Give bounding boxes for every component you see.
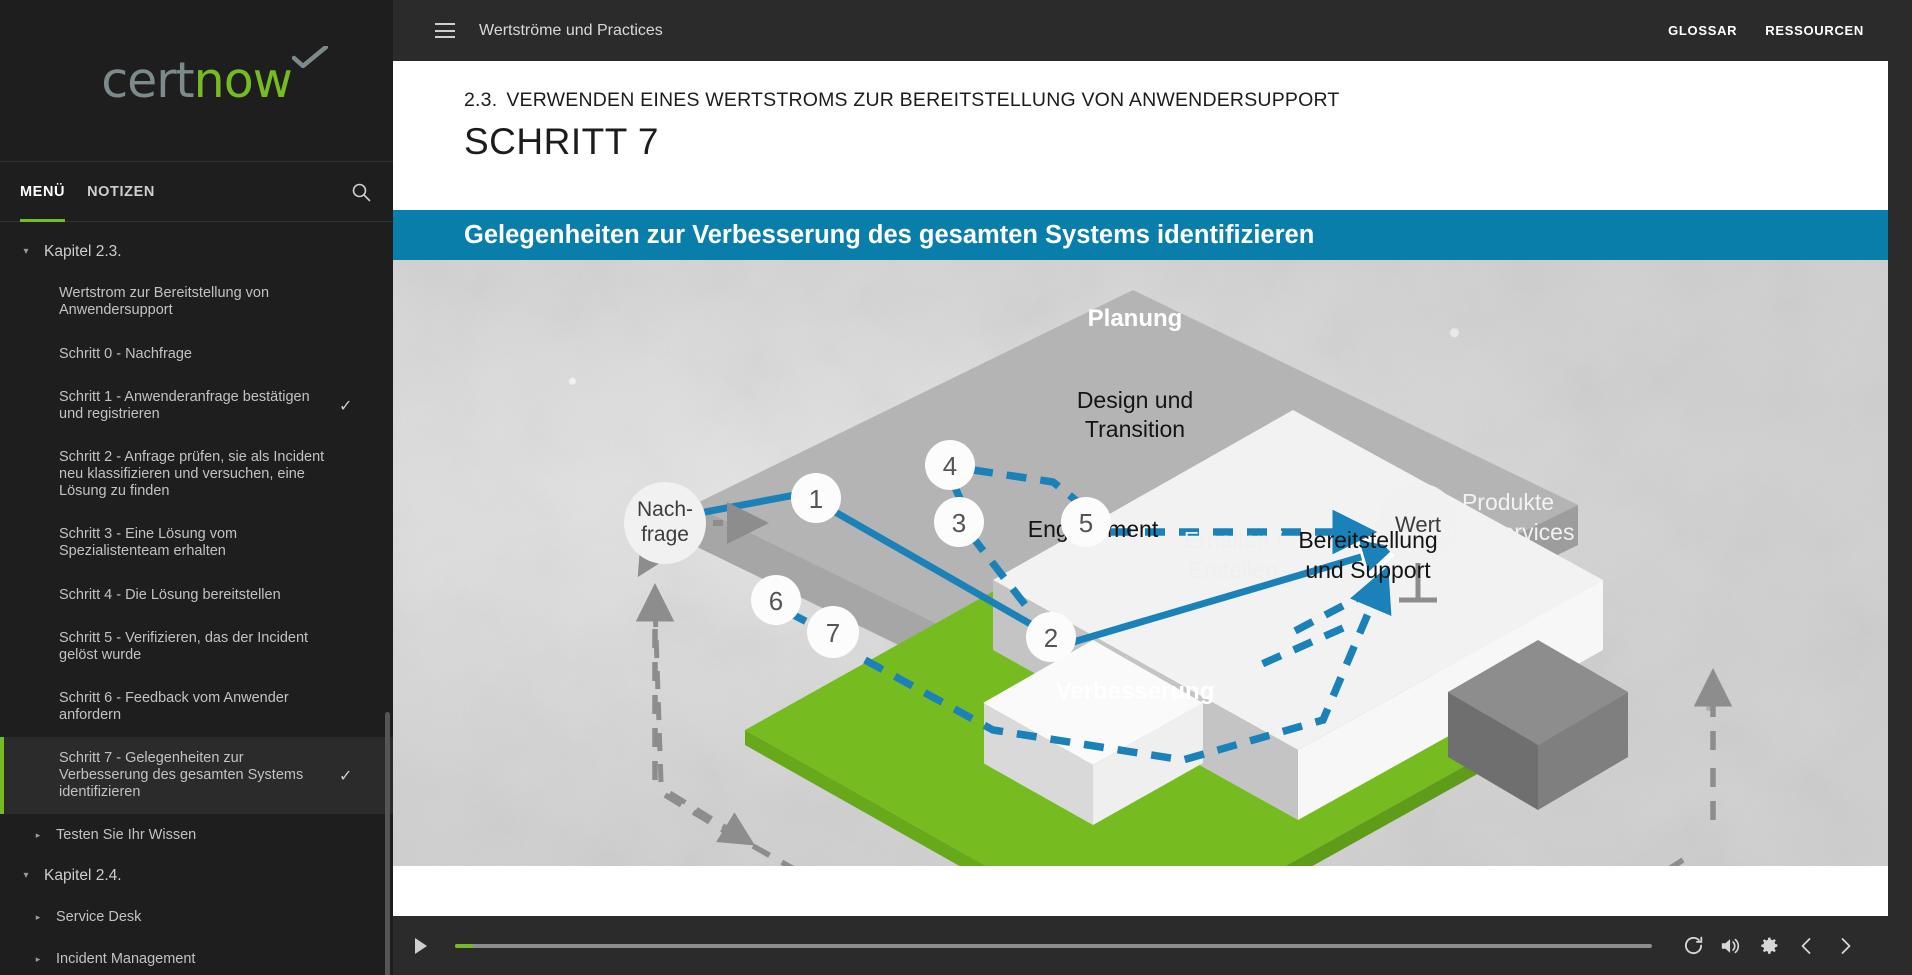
completed-check-icon: ✓ — [339, 766, 353, 786]
player-bar — [393, 916, 1912, 975]
nav-item-label: Schritt 6 - Feedback vom Anwender anford… — [59, 690, 329, 724]
page-title: SCHRITT 7 — [464, 121, 1888, 163]
step-node-2: 2 — [1044, 623, 1058, 653]
completed-check-icon: ✓ — [339, 396, 353, 416]
logo-wordmark: certnow — [101, 56, 292, 106]
delivery-support-line1: Bereitstellung — [1298, 527, 1437, 553]
improvement-label: Verbesserung — [1056, 678, 1215, 705]
nav-chapter-kapitel-2-4[interactable]: ▾ Kapitel 2.4. — [0, 856, 393, 896]
replay-icon[interactable] — [1674, 927, 1712, 965]
progress-slider[interactable] — [455, 944, 1652, 948]
slide-banner: Gelegenheiten zur Verbesserung des gesam… — [393, 210, 1888, 260]
step-node-3: 3 — [952, 508, 966, 538]
course-title: Wertströme und Practices — [479, 22, 663, 40]
nav-item-label: Schritt 0 - Nachfrage — [59, 346, 329, 363]
sidebar-item-schritt-7[interactable]: Schritt 7 - Gelegenheiten zur Verbesseru… — [0, 737, 393, 814]
nav-chapter-label: Kapitel 2.4. — [44, 866, 122, 886]
volume-icon[interactable] — [1712, 927, 1750, 965]
checkmark-icon — [292, 46, 328, 68]
settings-gear-icon[interactable] — [1750, 927, 1788, 965]
sidebar-scrollbar[interactable] — [385, 222, 390, 975]
nav-item-label: Schritt 5 - Verifizieren, das der Incide… — [59, 630, 329, 664]
top-bar: Wertströme und Practices GLOSSAR RESSOUR… — [393, 0, 1912, 61]
slide-banner-text: Gelegenheiten zur Verbesserung des gesam… — [464, 221, 1314, 250]
link-ressourcen[interactable]: RESSOURCEN — [1765, 23, 1864, 38]
nav-item-label: Schritt 7 - Gelegenheiten zur Verbesseru… — [59, 750, 329, 801]
slide-eyebrow-text: VERWENDEN EINES WERTSTROMS ZUR BEREITSTE… — [506, 89, 1339, 111]
step-nodes: 1 2 3 4 5 6 7 — [751, 440, 1111, 662]
value-stream-diagram: Nach- frage Wert Planung Design und — [393, 260, 1888, 866]
sidebar-tabs: MENÜ NOTIZEN — [0, 162, 393, 222]
delivery-support-line2: und Support — [1305, 557, 1431, 583]
nav-sub-label: Incident Management — [56, 951, 195, 967]
main-panel: Wertströme und Practices GLOSSAR RESSOUR… — [393, 0, 1912, 975]
app-root: certnow MENÜ NOTIZEN ▾ Kapitel 2.3. Wert… — [0, 0, 1912, 975]
link-glossar[interactable]: GLOSSAR — [1668, 23, 1737, 38]
brand-logo[interactable]: certnow — [0, 0, 393, 162]
nav-sub-label: Testen Sie Ihr Wissen — [56, 827, 196, 843]
sidebar-item-schritt-0[interactable]: Schritt 0 - Nachfrage — [0, 332, 393, 376]
progress-fill — [455, 944, 473, 948]
nav-item-label: Schritt 1 - Anwenderanfrage bestätigen u… — [59, 389, 329, 423]
slide-eyebrow: 2.3.VERWENDEN EINES WERTSTROMS ZUR BEREI… — [464, 89, 1888, 112]
demand-label-line2: frage — [641, 523, 689, 546]
nav-item-label: Wertstrom zur Bereitstellung von Anwende… — [59, 285, 329, 319]
sidebar-item-incident-management[interactable]: ▸ Incident Management — [0, 938, 393, 975]
demand-label-line1: Nach- — [637, 498, 693, 521]
design-transition-line2: Transition — [1085, 416, 1185, 442]
tab-notizen[interactable]: NOTIZEN — [87, 162, 155, 222]
sidebar-item-wertstrom[interactable]: Wertstrom zur Bereitstellung von Anwende… — [0, 272, 393, 332]
next-icon[interactable] — [1826, 927, 1864, 965]
step-node-5: 5 — [1079, 508, 1093, 538]
sidebar-item-schritt-5[interactable]: Schritt 5 - Verifizieren, das der Incide… — [0, 617, 393, 677]
svs-labels: Nach- frage Wert Planung Design und — [393, 260, 1888, 866]
step-node-7: 7 — [826, 618, 840, 648]
sidebar-nav[interactable]: ▾ Kapitel 2.3. Wertstrom zur Bereitstell… — [0, 222, 393, 975]
design-transition-line1: Design und — [1077, 387, 1193, 413]
planung-label: Planung — [1088, 305, 1183, 332]
sidebar-item-testen-sie-ihr-wissen[interactable]: ▸ Testen Sie Ihr Wissen — [0, 814, 393, 856]
tab-menu[interactable]: MENÜ — [20, 162, 65, 222]
products-services-line2: und Services — [1442, 519, 1575, 545]
sidebar-item-schritt-3[interactable]: Schritt 3 - Eine Lösung vom Spezialisten… — [0, 513, 393, 573]
obtain-build-line2: Erstellen — [1188, 557, 1277, 583]
scrollbar-thumb[interactable] — [385, 712, 390, 975]
sidebar-item-schritt-2[interactable]: Schritt 2 - Anfrage prüfen, sie als Inci… — [0, 436, 393, 513]
sidebar: certnow MENÜ NOTIZEN ▾ Kapitel 2.3. Wert… — [0, 0, 393, 975]
play-icon[interactable] — [401, 938, 441, 954]
step-node-6: 6 — [769, 586, 783, 616]
chevron-down-icon: ▾ — [20, 242, 32, 262]
nav-item-label: Schritt 4 - Die Lösung bereitstellen — [59, 587, 329, 604]
products-services-line1: Produkte — [1462, 489, 1554, 515]
sidebar-item-service-desk[interactable]: ▸ Service Desk — [0, 896, 393, 938]
sidebar-item-schritt-4[interactable]: Schritt 4 - Die Lösung bereitstellen — [0, 573, 393, 617]
slide-eyebrow-number: 2.3. — [464, 89, 497, 111]
nav-item-label: Schritt 3 - Eine Lösung vom Spezialisten… — [59, 526, 329, 560]
nav-chapter-kapitel-2-3[interactable]: ▾ Kapitel 2.3. — [0, 232, 393, 272]
step-node-4: 4 — [943, 451, 957, 481]
previous-icon[interactable] — [1788, 927, 1826, 965]
chevron-right-icon: ▸ — [32, 954, 44, 965]
sidebar-item-schritt-6[interactable]: Schritt 6 - Feedback vom Anwender anford… — [0, 677, 393, 737]
chevron-down-icon: ▾ — [20, 866, 32, 886]
step-node-1: 1 — [809, 484, 823, 514]
top-bar-links: GLOSSAR RESSOURCEN — [1668, 23, 1864, 38]
slide-header: 2.3.VERWENDEN EINES WERTSTROMS ZUR BEREI… — [393, 61, 1888, 210]
logo-text-cert: cert — [101, 52, 193, 109]
obtain-build-line1: Erhalten / — [1184, 527, 1283, 553]
slide-stage: 2.3.VERWENDEN EINES WERTSTROMS ZUR BEREI… — [393, 61, 1888, 916]
chevron-right-icon: ▸ — [32, 912, 44, 923]
nav-item-label: Schritt 2 - Anfrage prüfen, sie als Inci… — [59, 449, 329, 500]
chevron-right-icon: ▸ — [32, 830, 44, 841]
nav-chapter-label: Kapitel 2.3. — [44, 242, 122, 262]
sidebar-item-schritt-1[interactable]: Schritt 1 - Anwenderanfrage bestätigen u… — [0, 376, 393, 436]
hamburger-icon[interactable] — [435, 23, 455, 38]
nav-sub-label: Service Desk — [56, 909, 141, 925]
logo-text-now: now — [194, 52, 292, 109]
search-icon[interactable] — [349, 180, 373, 204]
